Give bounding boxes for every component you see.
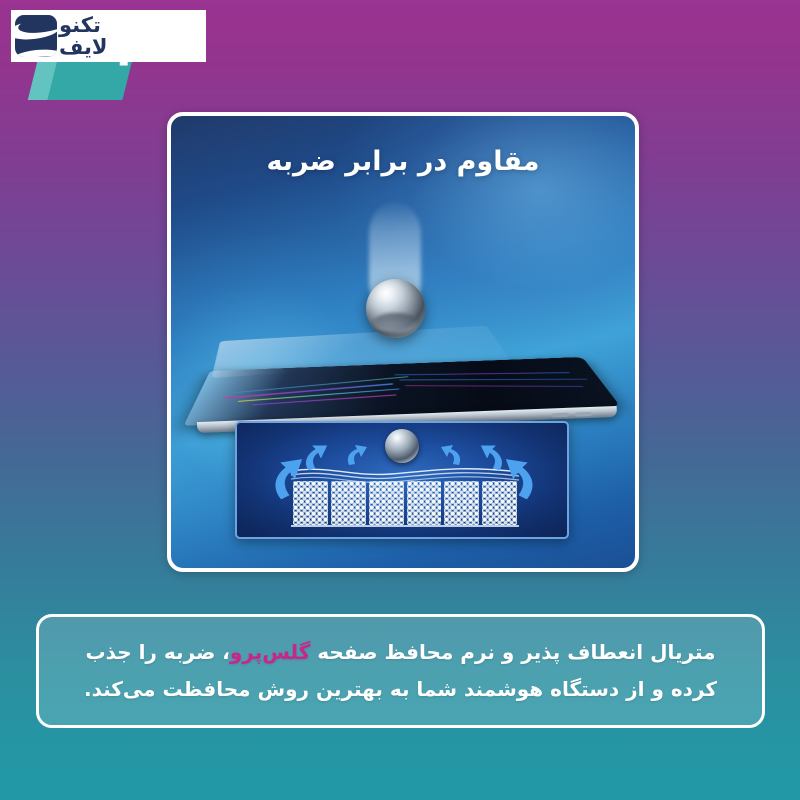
wallpaper-stroke — [405, 385, 584, 387]
tablet-port-icon — [552, 413, 569, 418]
brand-logo-word-bottom: لایف — [59, 37, 108, 58]
product-image-panel: مقاوم در برابر ضربه — [167, 112, 639, 572]
arrow-up-left-inner — [304, 443, 331, 470]
technolife-e-mark-icon — [15, 15, 57, 57]
arrow-up-right-inner — [478, 443, 505, 470]
description-card: متریال انعطاف پذیر و نرم محافظ صفحه گلس‌… — [36, 614, 765, 728]
shock-absorption-diagram — [235, 421, 569, 539]
wallpaper-stroke — [400, 379, 588, 381]
wallpaper-stroke — [394, 372, 570, 375]
brand-logo[interactable]: تکنو لایف — [11, 10, 206, 62]
wallpaper-stroke — [252, 394, 397, 405]
diagram-energy-arrows — [237, 423, 569, 539]
description-text: متریال انعطاف پذیر و نرم محافظ صفحه گلس‌… — [65, 634, 736, 708]
tablet-port-icon — [575, 412, 592, 417]
brand-logo-wordmark: تکنو لایف — [59, 15, 108, 58]
logo-mark-band — [15, 47, 57, 57]
description-brand-highlight: گلس‌پرو — [230, 640, 310, 664]
brand-header: pro تکنو لایف — [0, 0, 800, 100]
poster-canvas: pro تکنو لایف مقاوم در برابر ضربه — [0, 0, 800, 800]
description-part-before: متریال انعطاف پذیر و نرم محافظ صفحه — [310, 640, 715, 664]
steel-impact-ball — [366, 279, 425, 338]
arrow-up-right-mid — [441, 445, 460, 465]
arrow-up-left-mid — [348, 445, 367, 465]
arrow-up-right-outer — [498, 457, 538, 500]
arrow-up-left-outer — [270, 457, 310, 500]
panel-title: مقاوم در برابر ضربه — [171, 146, 635, 177]
brand-logo-word-top: تکنو — [59, 15, 101, 36]
